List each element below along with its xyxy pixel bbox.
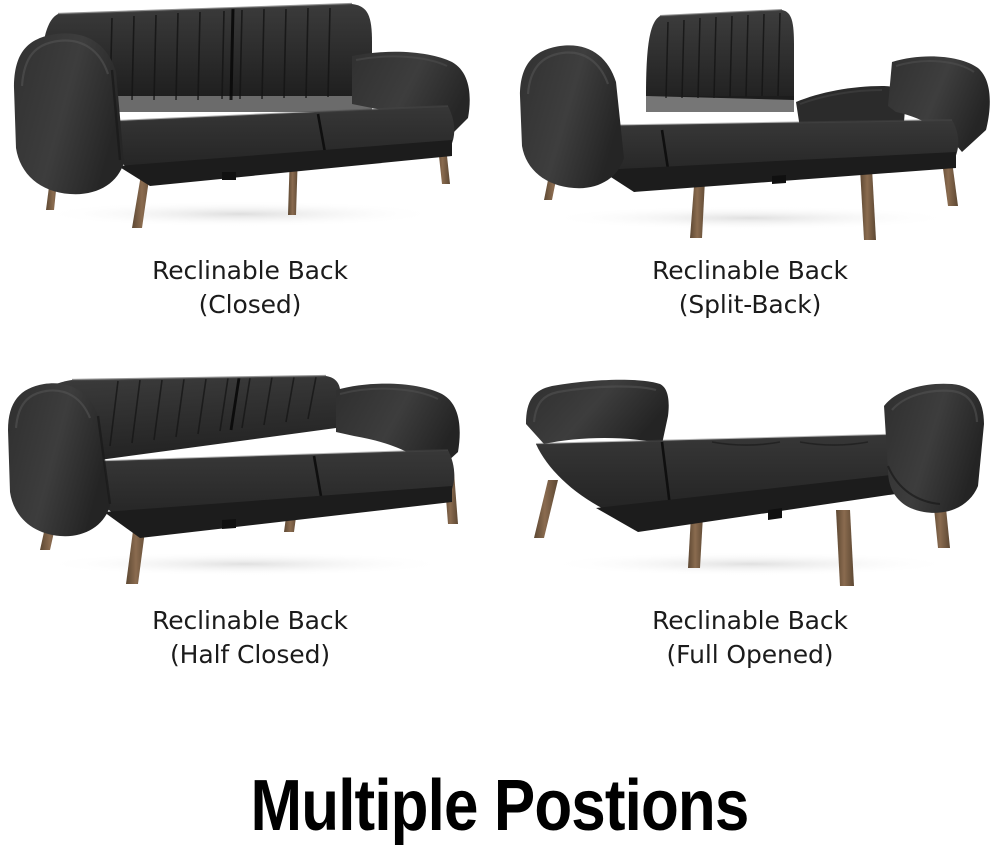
caption-line-2: (Split-Back) <box>652 288 848 322</box>
leg <box>534 480 558 538</box>
leg <box>860 168 876 240</box>
product-infographic: Reclinable Back (Closed) <box>0 0 1000 865</box>
caption-line-1: Reclinable Back <box>652 606 848 635</box>
panel-full-opened: Reclinable Back (Full Opened) <box>500 350 1000 700</box>
caption-line-1: Reclinable Back <box>152 256 348 285</box>
sofa-split-back-image <box>500 0 1000 250</box>
sofa-closed-icon <box>0 0 500 250</box>
caption-closed: Reclinable Back (Closed) <box>152 254 348 322</box>
panel-split-back: Reclinable Back (Split-Back) <box>500 0 1000 350</box>
panel-half-closed: Reclinable Back (Half Closed) <box>0 350 500 700</box>
caption-line-2: (Half Closed) <box>152 638 348 672</box>
caption-half-closed: Reclinable Back (Half Closed) <box>152 604 348 672</box>
banner-title: Multiple Postions <box>251 770 749 842</box>
caption-split-back: Reclinable Back (Split-Back) <box>652 254 848 322</box>
caption-line-1: Reclinable Back <box>152 606 348 635</box>
sofa-full-opened-image <box>500 350 1000 600</box>
caption-full-opened: Reclinable Back (Full Opened) <box>652 604 848 672</box>
sofa-half-closed-image <box>0 350 500 600</box>
sofa-closed-image <box>0 0 500 250</box>
caption-line-2: (Full Opened) <box>652 638 848 672</box>
position-grid: Reclinable Back (Closed) <box>0 0 1000 700</box>
panel-closed: Reclinable Back (Closed) <box>0 0 500 350</box>
caption-line-2: (Closed) <box>152 288 348 322</box>
caption-line-1: Reclinable Back <box>652 256 848 285</box>
banner: Multiple Postions <box>0 770 1000 842</box>
sofa-full-opened-icon <box>500 350 1000 600</box>
sofa-half-closed-icon <box>0 350 500 600</box>
sofa-split-back-icon <box>500 0 1000 250</box>
